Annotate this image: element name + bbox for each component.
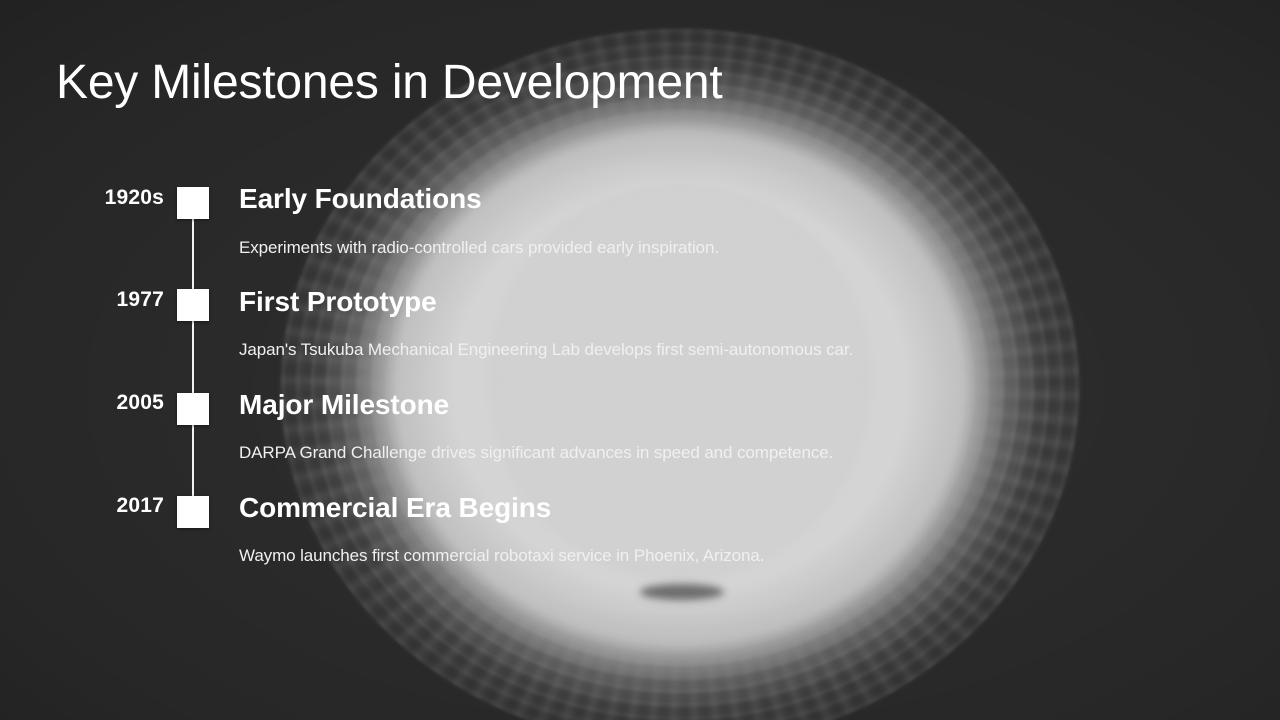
timeline-description: Waymo launches first commercial robotaxi… [239,546,764,566]
timeline-date-label: 2005 [24,391,164,415]
timeline-axis-line [192,203,194,513]
timeline-node-marker[interactable] [177,289,209,321]
page-title: Key Milestones in Development [56,55,723,110]
presentation-slide: Key Milestones in Development 1920s Earl… [0,0,1280,720]
timeline-description: DARPA Grand Challenge drives significant… [239,443,833,463]
timeline-date-label: 1977 [24,288,164,312]
timeline-heading: Major Milestone [239,389,449,421]
timeline-node-marker[interactable] [177,187,209,219]
timeline-date-label: 2017 [24,494,164,518]
timeline-description: Experiments with radio-controlled cars p… [239,238,719,258]
timeline-date-label: 1920s [24,186,164,210]
timeline-heading: First Prototype [239,286,437,318]
timeline-heading: Commercial Era Begins [239,492,551,524]
timeline-node-marker[interactable] [177,496,209,528]
timeline-node-marker[interactable] [177,393,209,425]
slide-content: Key Milestones in Development 1920s Earl… [0,0,1280,720]
timeline-heading: Early Foundations [239,183,482,215]
timeline-description: Japan's Tsukuba Mechanical Engineering L… [239,340,853,360]
